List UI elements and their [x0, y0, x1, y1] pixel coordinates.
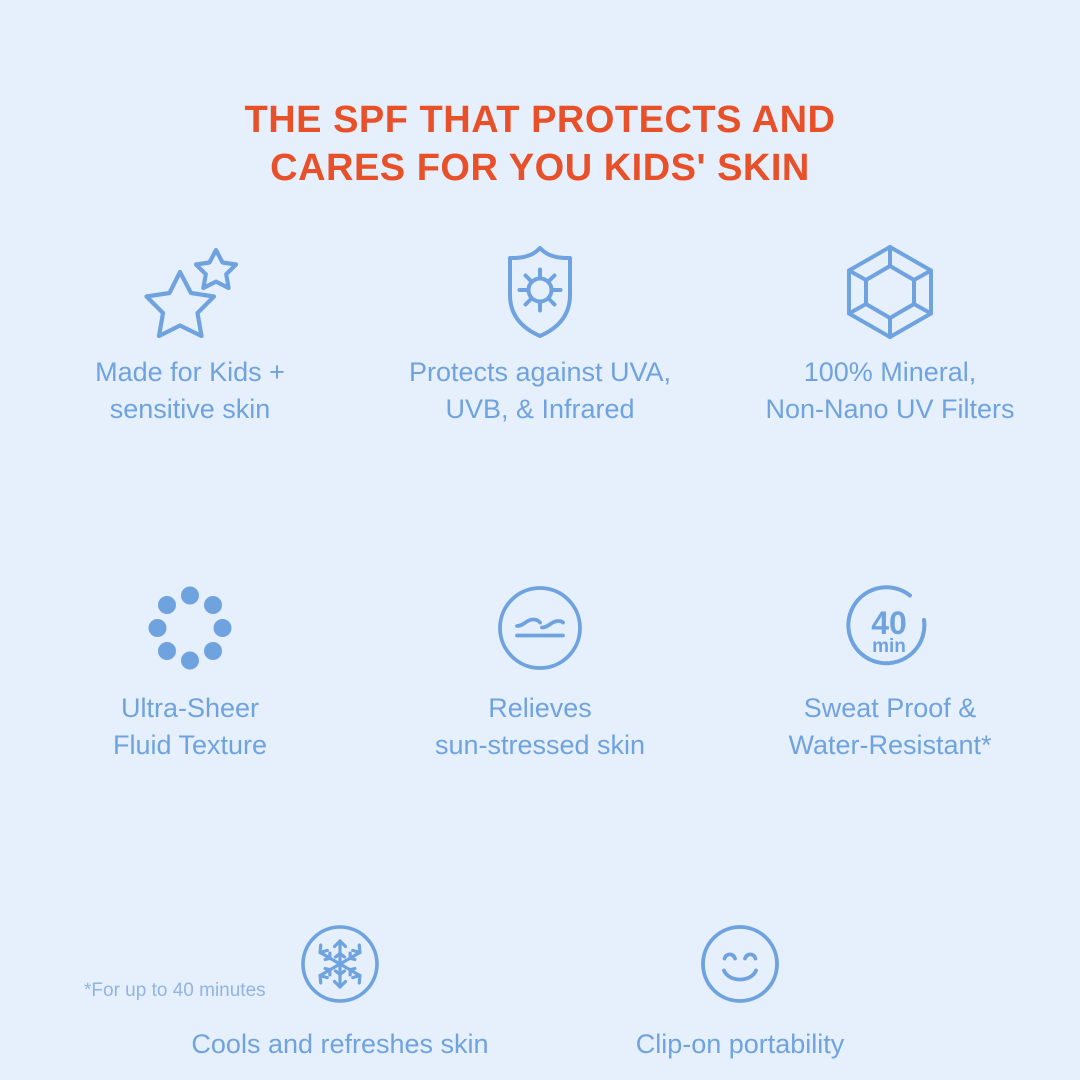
- hexagon-crystal-icon: [844, 240, 936, 344]
- feature-label: Cools and refreshes skin: [191, 1026, 488, 1063]
- feature-label: Relieves sun-stressed skin: [435, 690, 645, 764]
- feature-row-2: Ultra-Sheer Fluid Texture Relieves sun-s…: [0, 576, 1080, 764]
- headline-line-1: THE SPF THAT PROTECTS AND: [0, 96, 1080, 144]
- smiley-face-icon: [700, 912, 780, 1016]
- feature-mineral-filters: 100% Mineral, Non-Nano UV Filters: [715, 240, 1065, 428]
- feature-label: Clip-on portability: [636, 1026, 845, 1063]
- headline-line-2: CARES FOR YOU KIDS' SKIN: [0, 144, 1080, 192]
- feature-label: Sweat Proof & Water-Resistant*: [788, 690, 991, 764]
- feature-grid: Made for Kids + sensitive skin Protects …: [0, 240, 1080, 1063]
- two-stars-icon: [142, 240, 238, 344]
- snowflake-circle-icon: [300, 912, 380, 1016]
- feature-ultra-sheer-texture: Ultra-Sheer Fluid Texture: [15, 576, 365, 764]
- feature-clip-on-portability: Clip-on portability: [540, 912, 940, 1063]
- badge-unit-text: min: [872, 636, 906, 657]
- feature-label: 100% Mineral, Non-Nano UV Filters: [765, 354, 1014, 428]
- feature-relieves-sun-stress: Relieves sun-stressed skin: [365, 576, 715, 764]
- feature-sweat-water-resistant: 40 min Sweat Proof & Water-Resistant*: [715, 576, 1065, 764]
- soothing-waves-circle-icon: [497, 576, 583, 680]
- footnote-text: *For up to 40 minutes: [84, 978, 266, 1004]
- feature-label: Protects against UVA, UVB, & Infrared: [409, 354, 671, 428]
- infographic-page: THE SPF THAT PROTECTS AND CARES FOR YOU …: [0, 0, 1080, 1080]
- feature-made-for-kids: Made for Kids + sensitive skin: [15, 240, 365, 428]
- dotted-circle-icon: [148, 576, 232, 680]
- feature-label: Made for Kids + sensitive skin: [95, 354, 285, 428]
- shield-with-sun-icon: [500, 240, 580, 344]
- forty-minutes-badge-icon: 40 min: [846, 576, 934, 680]
- feature-row-1: Made for Kids + sensitive skin Protects …: [0, 240, 1080, 428]
- page-title: THE SPF THAT PROTECTS AND CARES FOR YOU …: [0, 96, 1080, 192]
- feature-protects-uva-uvb: Protects against UVA, UVB, & Infrared: [365, 240, 715, 428]
- feature-label: Ultra-Sheer Fluid Texture: [113, 690, 267, 764]
